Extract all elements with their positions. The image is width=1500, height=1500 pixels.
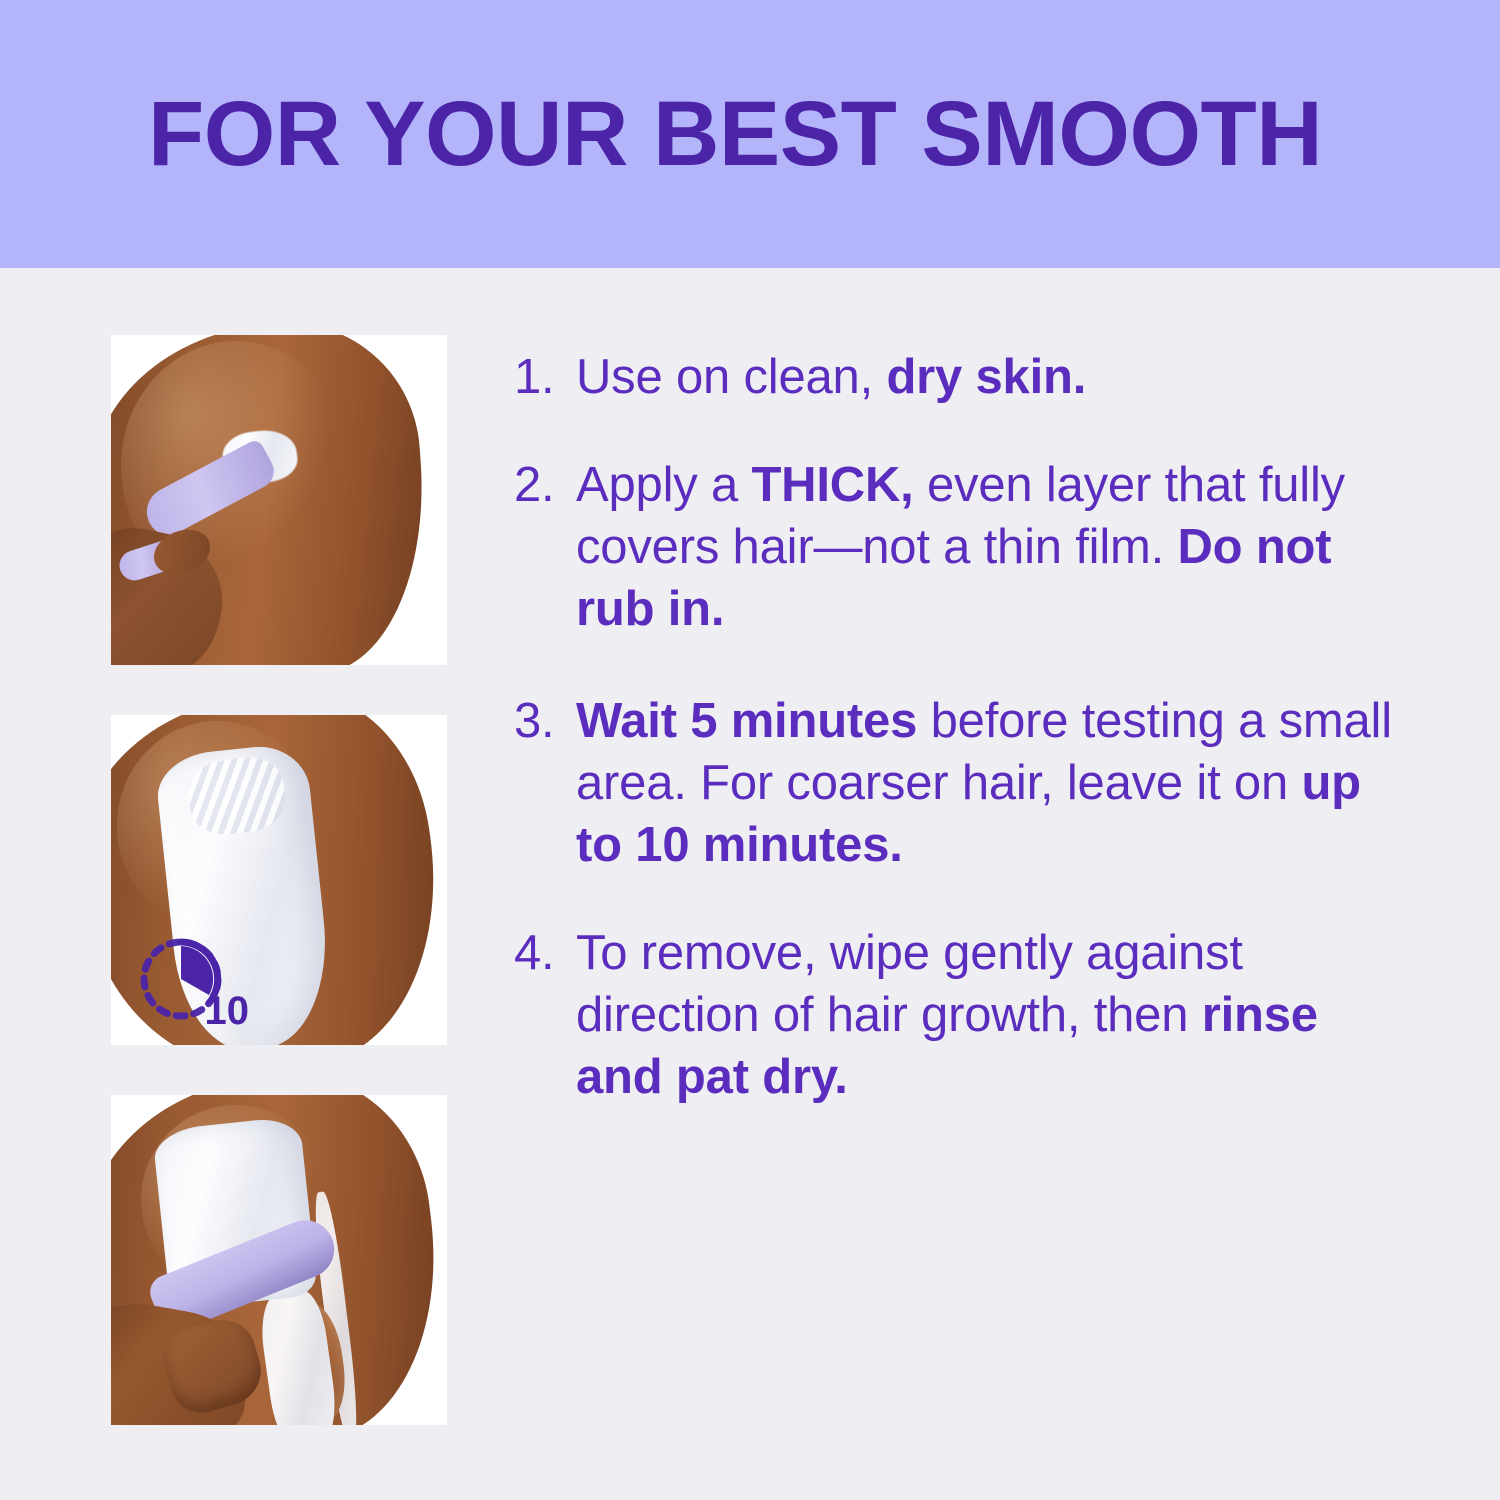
step-number: 2. (514, 454, 576, 516)
photo-remove-cream (111, 1095, 447, 1425)
step-text: To remove, wipe gently against direction… (576, 922, 1414, 1108)
timer-badge: 10 (133, 933, 251, 1029)
step-text: Wait 5 minutes before testing a small ar… (576, 690, 1414, 876)
photo-thick-layer: 10 (111, 715, 447, 1045)
step-text: Apply a THICK, even layer that fully cov… (576, 454, 1414, 640)
header-band: FOR YOUR BEST SMOOTH (0, 0, 1500, 268)
step-number: 4. (514, 922, 576, 984)
photo-apply-cream (111, 335, 447, 665)
instruction-step-3: 3. Wait 5 minutes before testing a small… (514, 690, 1414, 876)
photo-column: 10 (111, 335, 447, 1425)
timer-minutes-value: 10 (205, 991, 250, 1031)
step-number: 1. (514, 346, 576, 408)
content-area: 10 1. Use on clean, dry skin. (0, 268, 1500, 1500)
step-text: Use on clean, dry skin. (576, 346, 1414, 408)
instruction-step-4: 4. To remove, wipe gently against direct… (514, 922, 1414, 1108)
instruction-step-1: 1. Use on clean, dry skin. (514, 346, 1414, 408)
instruction-graphic: FOR YOUR BEST SMOOTH (0, 0, 1500, 1500)
step-number: 3. (514, 690, 576, 752)
instruction-step-2: 2. Apply a THICK, even layer that fully … (514, 454, 1414, 640)
instructions-list: 1. Use on clean, dry skin. 2. Apply a TH… (514, 346, 1414, 1108)
page-title: FOR YOUR BEST SMOOTH (148, 84, 1322, 184)
